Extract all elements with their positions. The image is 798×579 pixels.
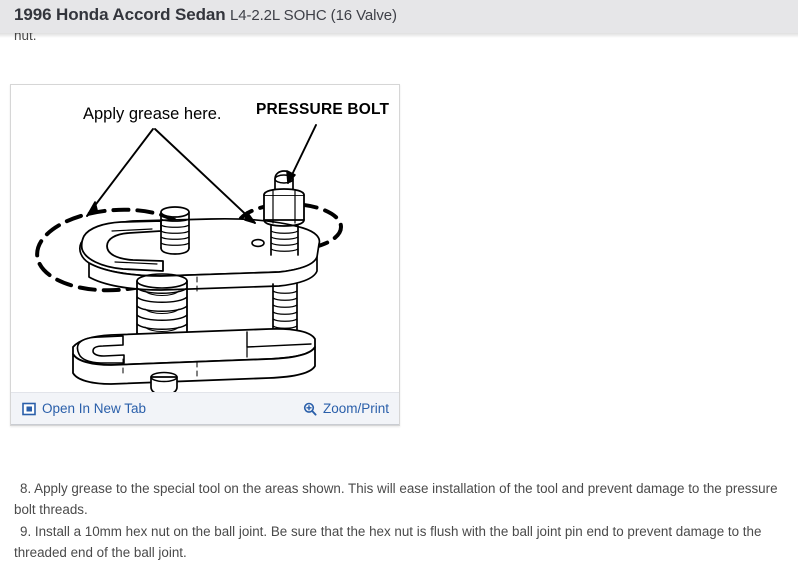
step-8: 8. Apply grease to the special tool on t… [14,478,786,520]
zoom-print-link[interactable]: Zoom/Print [303,402,389,416]
figure-image[interactable]: Apply grease here. PRESSURE BOLT [11,85,399,392]
svg-text:Apply grease here.: Apply grease here. [83,105,222,123]
page-title: 1996 Honda Accord Sedan [14,5,226,24]
step-9: 9. Install a 10mm hex nut on the ball jo… [14,521,786,563]
open-in-new-tab-label: Open In New Tab [42,402,146,416]
figure-panel: Apply grease here. PRESSURE BOLT Open In… [10,84,400,426]
magnifier-plus-icon [303,402,317,416]
figure-toolbar: Open In New Tab Zoom/Print [11,392,399,425]
svg-text:PRESSURE BOLT: PRESSURE BOLT [256,101,390,118]
instruction-steps: 8. Apply grease to the special tool on t… [14,478,786,563]
page-subtitle: L4-2.2L SOHC (16 Valve) [230,7,397,24]
open-in-new-tab-link[interactable]: Open In New Tab [22,402,146,416]
open-in-new-tab-icon [22,402,36,416]
zoom-print-label: Zoom/Print [323,402,389,416]
vehicle-header: 1996 Honda Accord Sedan L4-2.2L SOHC (16… [0,0,798,33]
